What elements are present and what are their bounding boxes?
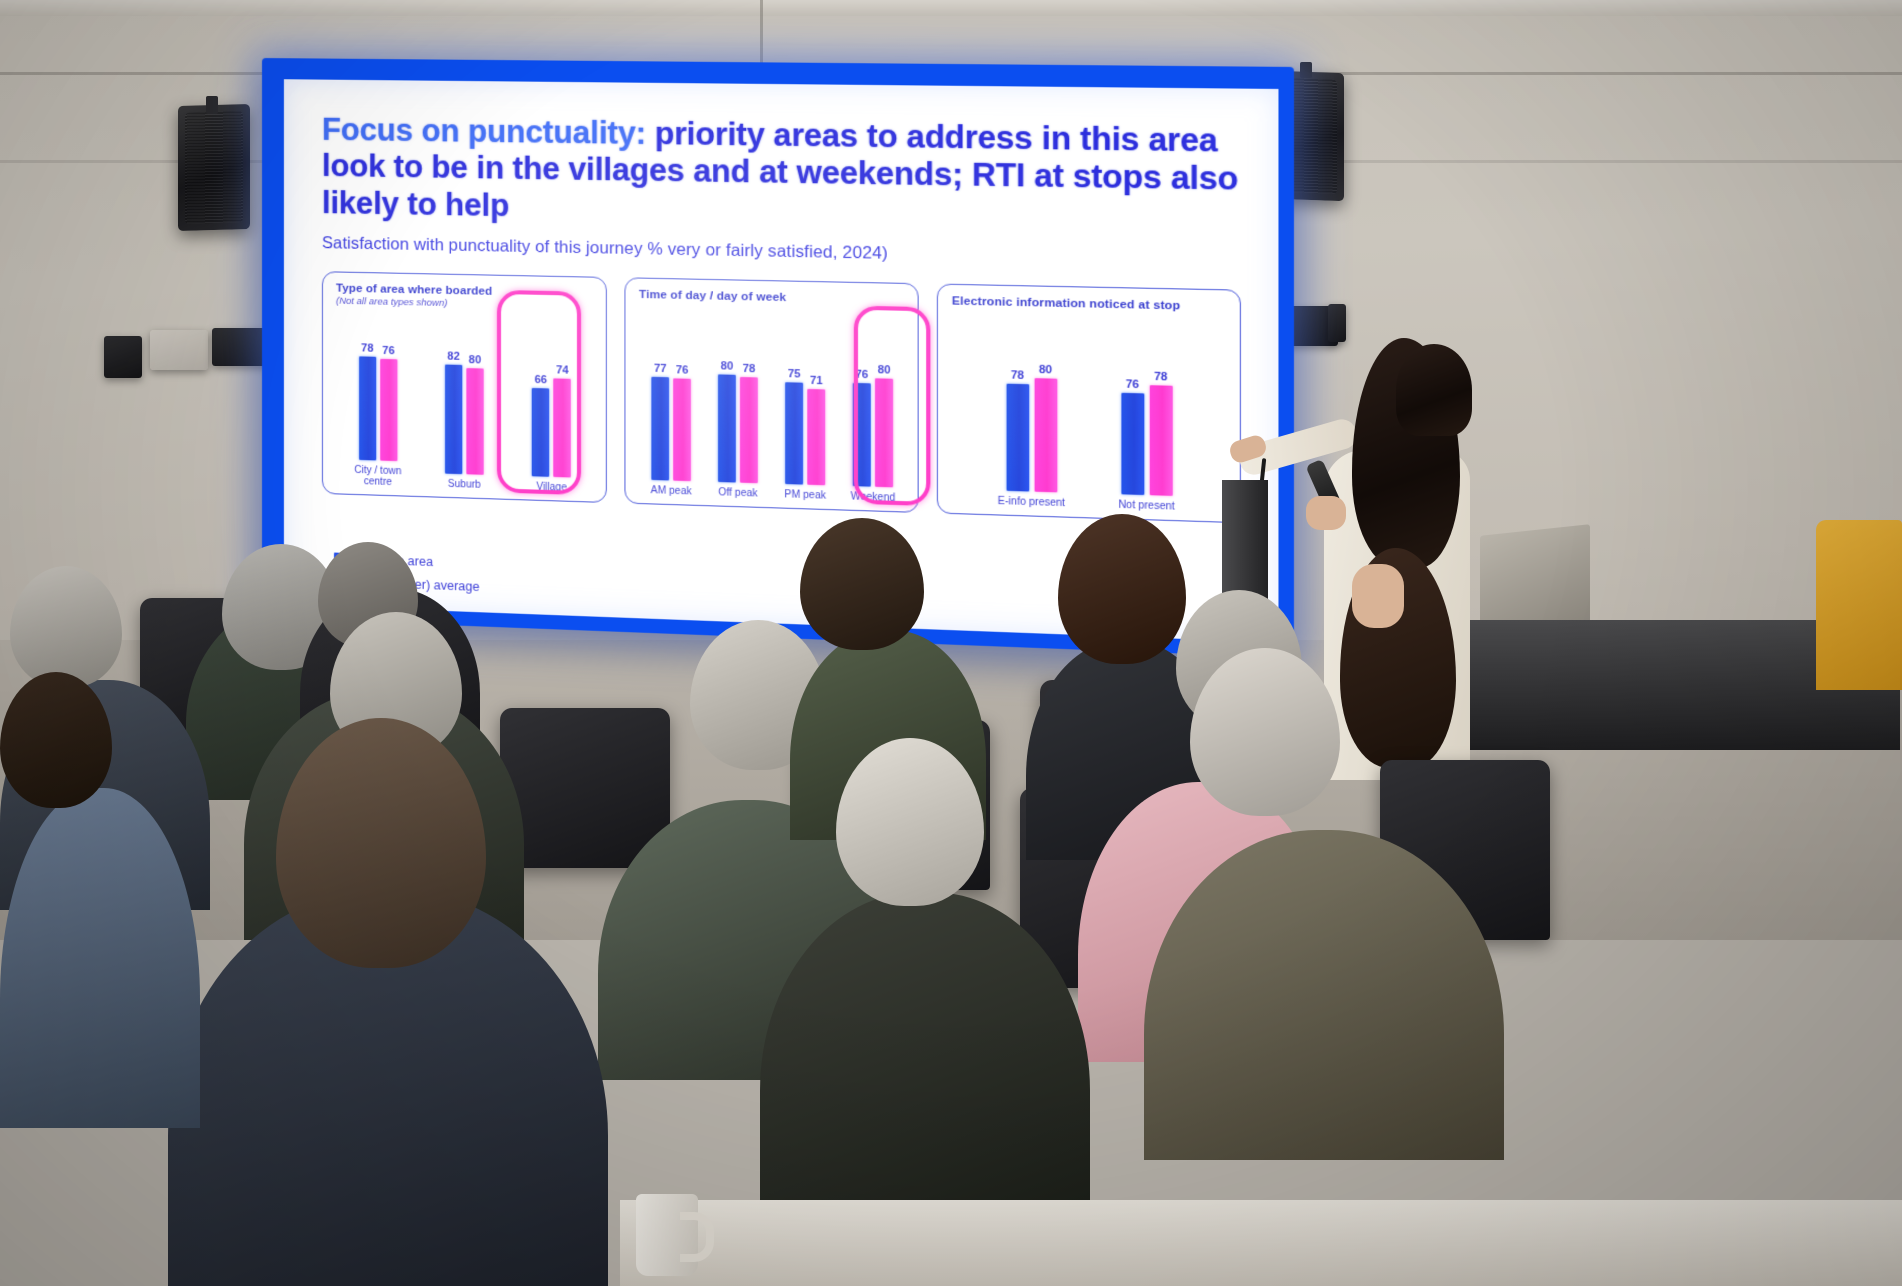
bar-blue-wrap: 80 — [718, 347, 736, 483]
conference-room-scene: Focus on punctuality: priority areas to … — [0, 0, 1902, 1286]
bar-value-label: 76 — [1126, 379, 1139, 391]
bar-value-label: 71 — [810, 375, 823, 387]
bar-blue-wrap: 78 — [359, 327, 376, 460]
audience — [0, 470, 1902, 1286]
bar-pink-wrap: 74 — [554, 343, 571, 478]
bar-blue-wrap: 75 — [785, 349, 803, 485]
bar-value-label: 78 — [1011, 371, 1024, 383]
bar-pink — [380, 359, 397, 460]
wall-panel — [150, 330, 208, 370]
slide-title: Focus on punctuality: priority areas to … — [322, 112, 1241, 237]
speaker-mount-left — [206, 96, 218, 114]
bar-blue-wrap: 76 — [853, 350, 871, 487]
bar-pink-wrap: 80 — [466, 341, 483, 475]
bar-value-label: 78 — [361, 343, 373, 354]
presenter-hair-top — [1396, 344, 1472, 436]
audience-head — [10, 566, 122, 688]
bar-pink-wrap: 78 — [740, 348, 758, 484]
bar-blue — [359, 356, 376, 460]
coffee-mug — [636, 1194, 698, 1276]
bar-blue-wrap: 77 — [651, 345, 669, 480]
bar-value-label: 77 — [654, 363, 667, 375]
slide-subtitle: Satisfaction with punctuality of this jo… — [322, 234, 1241, 271]
bar-value-label: 78 — [742, 364, 755, 376]
bar-value-label: 66 — [534, 375, 547, 386]
bar-value-label: 78 — [1154, 371, 1167, 383]
bar-pair: 75 71 — [785, 349, 825, 486]
bar-pink-wrap: 76 — [673, 346, 691, 481]
bar-value-label: 75 — [788, 369, 801, 381]
bar-pink-wrap: 80 — [875, 351, 893, 488]
front-table — [620, 1200, 1902, 1286]
bar-blue — [532, 388, 549, 477]
panel-title: Time of day / day of week — [639, 289, 907, 307]
bar-pink-wrap: 71 — [807, 349, 825, 485]
bar-pair: 77 76 — [651, 345, 691, 481]
ceiling-strip — [0, 0, 1902, 16]
bar-value-label: 82 — [447, 352, 459, 363]
audience-head — [1190, 648, 1340, 816]
bar-pink-wrap: 76 — [380, 328, 397, 461]
bar-blue — [651, 376, 669, 480]
bar-pair: 66 74 — [532, 343, 571, 478]
audience-head — [800, 518, 924, 650]
chart-panel-type-of-area: Type of area where boarded (Not all area… — [322, 271, 607, 503]
bar-blue-wrap: 82 — [445, 341, 462, 475]
bar-pink — [466, 368, 483, 475]
bar-pair: 76 80 — [853, 350, 893, 487]
audience-head — [1058, 514, 1186, 664]
bar-value-label: 80 — [878, 365, 891, 377]
bar-group: 78 76 City / town centre — [335, 318, 421, 489]
bar-value-label: 76 — [382, 346, 394, 357]
bar-value-label: 80 — [1039, 364, 1052, 376]
bar-value-label: 76 — [676, 365, 689, 377]
bar-plot: 78 76 City / town centre — [335, 318, 596, 495]
slide-title-accent: Focus on punctuality: — [322, 112, 646, 151]
bar-value-label: 76 — [855, 370, 868, 382]
bar-pair: 82 80 — [445, 341, 484, 475]
wall-speaker-left — [178, 104, 250, 231]
bar-blue — [718, 374, 736, 483]
bar-value-label: 80 — [469, 355, 481, 366]
bar-pair: 78 76 — [359, 327, 397, 461]
bar-value-label: 74 — [556, 365, 569, 376]
speaker-mount-right — [1300, 62, 1312, 78]
bar-pink — [554, 378, 571, 478]
bar-value-label: 80 — [721, 361, 734, 373]
bar-pink — [673, 378, 691, 481]
bar-blue-wrap: 66 — [532, 343, 549, 477]
bar-pink — [740, 377, 758, 483]
bar-blue — [445, 365, 462, 475]
panel-title: Electronic information noticed at stop — [952, 295, 1229, 313]
bar-group: 82 80 Suburb — [421, 320, 508, 492]
wall-socket-plate — [104, 336, 142, 378]
bar-pair: 80 78 — [718, 347, 758, 483]
